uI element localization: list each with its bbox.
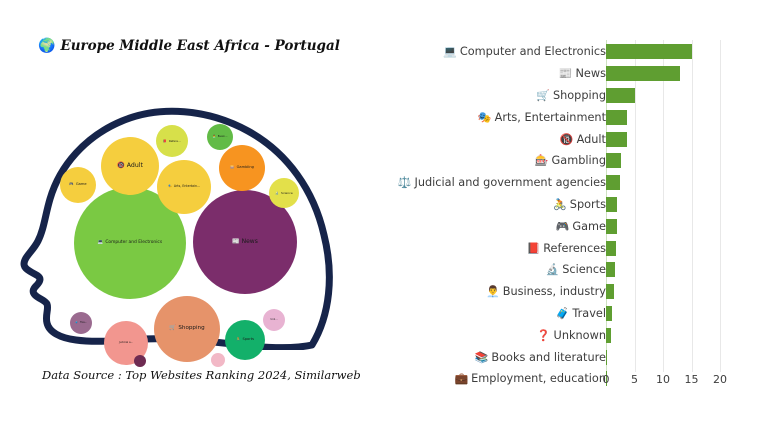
bar-row[interactable]: ⚖️Judicial and government agencies <box>400 172 768 194</box>
bar-category-label: 💻Computer and Electronics <box>443 41 606 63</box>
x-axis-tick-15: 15 <box>685 373 699 386</box>
bar-category-label: 🎭Arts, Entertainment <box>478 106 606 128</box>
bubble-label-text: Busin... <box>218 136 228 139</box>
bubble-label-text: Arts, Entertain... <box>174 185 200 188</box>
bar-row[interactable]: 🧳Travel <box>400 303 768 325</box>
bar-category-text: Sports <box>570 198 606 211</box>
bar-category-text: Arts, Entertainment <box>495 111 606 124</box>
bubble-label: 🎰Gambling <box>230 166 254 170</box>
bar[interactable] <box>606 153 621 168</box>
bar-category-icon: 🚴 <box>553 199 567 210</box>
bubble-label: 🔞Adult <box>117 163 143 169</box>
bubble-arts-entertain[interactable]: 🎭Arts, Entertain... <box>157 160 211 214</box>
bar-category-icon: 🔞 <box>560 134 574 145</box>
bubble-label-text: Refere... <box>169 140 181 143</box>
bubble-label: 🚴Sports <box>236 338 254 342</box>
bubble-label-text: Shopping <box>178 326 204 332</box>
bar-category-label: 👨‍💼Business, industry <box>486 281 606 303</box>
bubble-group: 💻Computer and Electronics📰News🛒Shopping🔞… <box>12 95 342 350</box>
bar-category-icon: 📚 <box>475 352 489 363</box>
bubble-shopping[interactable]: 🛒Shopping <box>154 296 220 362</box>
bubble-science[interactable]: 🔬Science <box>269 178 299 208</box>
bar-category-text: Business, industry <box>503 285 606 298</box>
bar[interactable] <box>606 350 607 365</box>
bar-category-label: 📰News <box>559 63 606 85</box>
globe-icon: 🌍 <box>38 39 55 53</box>
bar-row[interactable]: 🚴Sports <box>400 194 768 216</box>
bar-row[interactable]: 📚Books and literature <box>400 346 768 368</box>
bubble-unk[interactable]: Unk... <box>263 309 285 331</box>
bubble-label-text: Gambling <box>237 166 254 170</box>
infographic-page: 🌍 Europe Middle East Africa - Portugal 💻… <box>0 0 768 432</box>
bar-category-icon: 🎮 <box>556 221 570 232</box>
bar[interactable] <box>606 284 614 299</box>
bar-category-label: 🚴Sports <box>553 194 606 216</box>
bar-row[interactable]: 📰News <box>400 63 768 85</box>
bubble-label: 📕Refere... <box>163 140 180 143</box>
bubble-category-icon: 🎭 <box>168 185 172 188</box>
bar-category-text: Science <box>562 263 606 276</box>
bubble-small-15[interactable] <box>134 355 146 367</box>
right-panel: 💻Computer and Electronics📰News🛒Shopping🎭… <box>400 0 768 432</box>
bubble-category-icon: 🛒 <box>169 326 176 332</box>
bubble-small-14[interactable] <box>211 353 225 367</box>
page-title-text: Europe Middle East Africa - Portugal <box>60 38 339 54</box>
bubble-category-icon: 🚴 <box>236 338 240 342</box>
bar-row[interactable]: 👨‍💼Business, industry <box>400 281 768 303</box>
category-bar-chart: 💻Computer and Electronics📰News🛒Shopping🎭… <box>400 0 768 432</box>
bar-category-text: Books and literature <box>491 351 606 364</box>
bar-category-text: Shopping <box>553 89 606 102</box>
bubble-category-icon: 🧳 <box>75 322 78 324</box>
bar-category-text: Adult <box>577 133 606 146</box>
bar-row[interactable]: 🛒Shopping <box>400 85 768 107</box>
bar-row[interactable]: 💻Computer and Electronics <box>400 41 768 63</box>
bubble-label-text: Judicial a... <box>119 342 133 345</box>
bar[interactable] <box>606 262 615 277</box>
bubble-label-text: News <box>242 239 258 245</box>
bubble-sports[interactable]: 🚴Sports <box>225 320 265 360</box>
bar-category-text: News <box>575 67 606 80</box>
bar-category-icon: 🔬 <box>546 264 560 275</box>
bar-category-icon: 💼 <box>454 373 468 384</box>
x-axis-tick-20: 20 <box>713 373 727 386</box>
bar-row[interactable]: 📕References <box>400 237 768 259</box>
bar-category-icon: 🧳 <box>556 308 570 319</box>
bar[interactable] <box>606 241 616 256</box>
bar[interactable] <box>606 66 680 81</box>
bubble-label: 🔬Science <box>275 192 292 195</box>
bar-category-icon: 🎭 <box>478 112 492 123</box>
bar-category-label: 📚Books and literature <box>475 346 606 368</box>
bar[interactable] <box>606 175 620 190</box>
bar[interactable] <box>606 197 617 212</box>
bar-category-text: Gambling <box>552 154 606 167</box>
bar-category-text: Employment, education <box>471 372 606 385</box>
bar[interactable] <box>606 88 635 103</box>
bubble-label-text: Game <box>76 183 87 187</box>
bubble-label-text: Trav... <box>80 322 87 324</box>
bar-category-icon: 👨‍💼 <box>486 286 500 297</box>
bar-row[interactable]: ❓Unknown <box>400 324 768 346</box>
bubble-label: 💻Computer and Electronics <box>98 241 162 245</box>
bubble-category-icon: 💻 <box>98 241 103 245</box>
bubble-label: 👨‍💼Busin... <box>213 136 228 139</box>
bubble-category-icon: 🎰 <box>230 166 234 170</box>
bar[interactable] <box>606 110 627 125</box>
bar-category-label: ❓Unknown <box>537 324 606 346</box>
bubble-refere[interactable]: 📕Refere... <box>156 125 188 157</box>
bar-category-label: 🎮Game <box>556 215 606 237</box>
bar[interactable] <box>606 219 617 234</box>
bar[interactable] <box>606 306 612 321</box>
bubble-label: 🎭Arts, Entertain... <box>168 185 200 188</box>
bar[interactable] <box>606 328 611 343</box>
bubble-label-text: Computer and Electronics <box>105 241 162 245</box>
bubble-category-icon: 📕 <box>163 140 166 143</box>
bar[interactable] <box>606 132 627 147</box>
x-axis-tick-10: 10 <box>656 373 670 386</box>
bar-category-text: Computer and Electronics <box>460 45 606 58</box>
bubble-label: 🧳Trav... <box>75 322 87 324</box>
bubble-game[interactable]: 🎮Game <box>60 167 96 203</box>
bubble-category-icon: 🔞 <box>117 163 125 169</box>
bubble-label: 🛒Shopping <box>169 326 204 332</box>
bar-category-icon: ❓ <box>537 330 551 341</box>
bubble-label-text: Adult <box>127 163 143 169</box>
bubble-category-icon: 📰 <box>232 239 239 245</box>
bubble-category-icon: 🔬 <box>275 192 279 195</box>
bar-category-label: 🔬Science <box>546 259 607 281</box>
head-bubble-chart: 💻Computer and Electronics📰News🛒Shopping🔞… <box>12 95 342 350</box>
bar-category-text: Unknown <box>554 329 606 342</box>
bar-category-icon: 💻 <box>443 46 457 57</box>
bar-category-text: Travel <box>572 307 606 320</box>
bubble-busin[interactable]: 👨‍💼Busin... <box>207 124 233 150</box>
bar-category-label: 🔞Adult <box>560 128 606 150</box>
bar-category-icon: ⚖️ <box>398 177 412 188</box>
bubble-trav[interactable]: 🧳Trav... <box>70 312 92 334</box>
bar-category-icon: 📕 <box>527 243 541 254</box>
data-source-note: Data Source : Top Websites Ranking 2024,… <box>42 368 361 382</box>
bar-category-label: ⚖️Judicial and government agencies <box>398 172 606 194</box>
bar-category-icon: 🛒 <box>536 90 550 101</box>
bar-row[interactable]: 🎰Gambling <box>400 150 768 172</box>
page-title: 🌍 Europe Middle East Africa - Portugal <box>38 38 340 54</box>
bar-category-icon: 📰 <box>559 68 573 79</box>
bubble-gambling[interactable]: 🎰Gambling <box>219 145 265 191</box>
bar-category-label: 🧳Travel <box>556 303 606 325</box>
bar-category-text: Judicial and government agencies <box>415 176 607 189</box>
bar-category-label: 🎰Gambling <box>535 150 606 172</box>
bubble-label: Unk... <box>271 319 278 321</box>
bubble-category-icon: 🎮 <box>69 183 73 187</box>
bar-category-label: 📕References <box>527 237 606 259</box>
bubble-label: Judicial a... <box>119 342 133 345</box>
bar-category-label: 💼Employment, education <box>454 368 606 390</box>
bar-category-label: 🛒Shopping <box>536 85 606 107</box>
bubble-label-text: Science <box>281 192 293 195</box>
bubble-category-icon: 👨‍💼 <box>213 136 216 139</box>
bubble-label-text: Unk... <box>271 319 278 321</box>
x-axis-tick-0: 0 <box>603 373 610 386</box>
bar-row[interactable]: 🎭Arts, Entertainment <box>400 106 768 128</box>
bar-row[interactable]: 🔞Adult <box>400 128 768 150</box>
bubble-label: 🎮Game <box>69 183 86 187</box>
bubble-label: 📰News <box>232 239 258 245</box>
bar-category-icon: 🎰 <box>535 155 549 166</box>
bar[interactable] <box>606 44 692 59</box>
x-axis-tick-5: 5 <box>631 373 638 386</box>
bubble-adult[interactable]: 🔞Adult <box>101 137 159 195</box>
bar-category-text: References <box>543 242 606 255</box>
bar-row[interactable]: 🎮Game <box>400 215 768 237</box>
left-panel: 🌍 Europe Middle East Africa - Portugal 💻… <box>0 0 400 432</box>
bar-category-text: Game <box>572 220 606 233</box>
bubble-label-text: Sports <box>242 338 254 342</box>
bar-row[interactable]: 🔬Science <box>400 259 768 281</box>
